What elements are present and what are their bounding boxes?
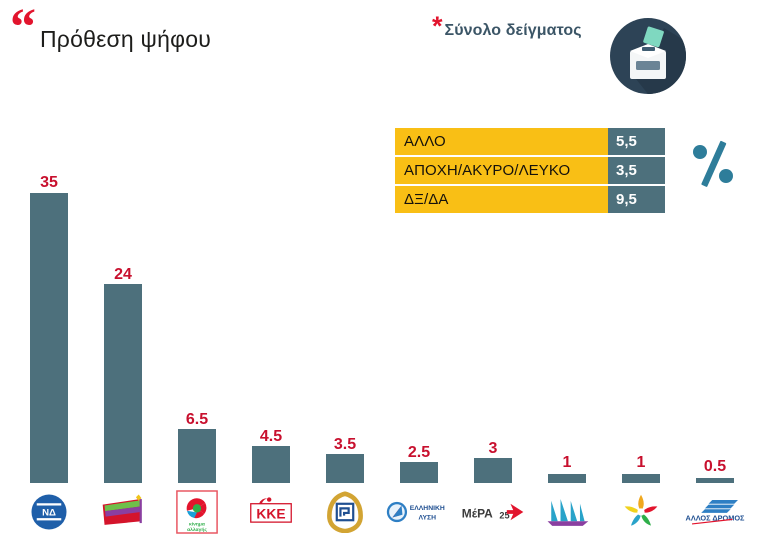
bar-value-label: 0.5 [678,458,752,476]
nd-logo: ΝΔ [12,486,86,538]
bar-column: 0.5 ΑΛΛΟΣ ΔΡΟΜΟΣ [678,0,752,544]
bar-column: 6.5 κίνημα αλλαγής [160,0,234,544]
bar-column: 3.5 [308,0,382,544]
elliniki-lysi-logo: ΕΛΛΗΝΙΚΗ ΛΥΣΗ [382,486,456,538]
svg-text:ΛΥΣΗ: ΛΥΣΗ [419,514,437,521]
bar-value-label: 24 [86,266,160,284]
bar-value-label: 3 [456,440,530,458]
svg-text:κίνημα: κίνημα [189,522,205,528]
bar [474,458,512,483]
bar-value-label: 1 [530,454,604,472]
bar [326,454,364,483]
svg-text:ΝΔ: ΝΔ [42,508,56,519]
asteri-logo [604,486,678,538]
svg-text:MέΡΑ: MέΡΑ [462,507,493,521]
plefsi-eleftherias-logo [530,486,604,538]
svg-text:ΚΚΕ: ΚΚΕ [256,506,285,521]
allos-dromos-logo: ΑΛΛΟΣ ΔΡΟΜΟΣ [678,486,752,538]
bar-column: 4.5 ΚΚΕ [234,0,308,544]
bar-column: 24 [86,0,160,544]
bar-column: 3 MέΡΑ 25 [456,0,530,544]
bar [252,446,290,483]
bar-value-label: 1 [604,454,678,472]
svg-text:αλλαγής: αλλαγής [187,527,207,533]
bar [400,462,438,483]
bar-chart: 35 ΝΔ 24 [0,0,768,544]
bar-value-label: 4.5 [234,428,308,446]
elliniki-lysi-meander-logo [308,486,382,538]
bar [548,474,586,483]
bar-column: 1 [530,0,604,544]
kinal-logo: κίνημα αλλαγής [160,486,234,538]
bar-value-label: 3.5 [308,436,382,454]
syriza-logo [86,486,160,538]
bar [178,429,216,483]
poll-infographic: “ Πρόθεση ψήφου * Σύνολο δείγματος ΑΛΛΟ … [0,0,768,544]
bar-value-label: 2.5 [382,444,456,462]
svg-text:ΕΛΛΗΝΙΚΗ: ΕΛΛΗΝΙΚΗ [410,505,445,512]
bar-value-label: 6.5 [160,411,234,429]
bar-column: 1 [604,0,678,544]
bar [696,478,734,483]
bar-column: 2.5 ΕΛΛΗΝΙΚΗ ΛΥΣΗ [382,0,456,544]
bar-value-label: 35 [12,174,86,192]
bar [30,193,68,483]
mera25-logo: MέΡΑ 25 [456,486,530,538]
bar [622,474,660,483]
bar [104,284,142,483]
bar-column: 35 ΝΔ [12,0,86,544]
kke-logo: ΚΚΕ [234,486,308,538]
